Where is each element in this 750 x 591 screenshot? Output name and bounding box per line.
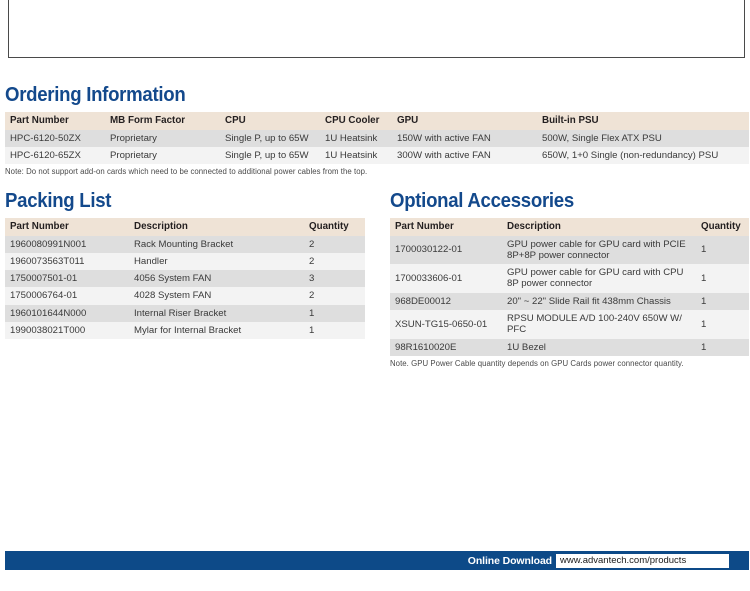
cell-quantity: 1 <box>304 305 365 322</box>
table-row: XSUN-TG15-0650-01 RPSU MODULE A/D 100-24… <box>390 310 749 339</box>
cell-description: Internal Riser Bracket <box>129 305 304 322</box>
column-header: CPU <box>220 112 320 130</box>
ordering-note: Note: Do not support add-on cards which … <box>5 167 749 176</box>
cell-part-number: 1750006764-01 <box>5 287 129 304</box>
cell-cpu-cooler: 1U Heatsink <box>320 147 392 164</box>
cell-description: 1U Bezel <box>502 339 696 356</box>
cell-description: Handler <box>129 253 304 270</box>
table-row: 1960101644N000 Internal Riser Bracket 1 <box>5 305 365 322</box>
optional-accessories-heading: Optional Accessories <box>390 190 724 213</box>
column-header: GPU <box>392 112 537 130</box>
column-header: Quantity <box>696 218 749 236</box>
cell-part-number: XSUN-TG15-0650-01 <box>390 310 502 339</box>
table-header-row: Part Number Description Quantity <box>5 218 365 236</box>
cell-quantity: 2 <box>304 253 365 270</box>
technical-drawing-frame: 507.5 [20.0] 540.5 [21.3] <box>8 0 745 58</box>
cell-description: 20" ~ 22" Slide Rail fit 438mm Chassis <box>502 293 696 310</box>
cell-quantity: 1 <box>304 322 365 339</box>
cell-cpu: Single P, up to 65W <box>220 147 320 164</box>
cell-part-number: 968DE00012 <box>390 293 502 310</box>
ordering-heading: Ordering Information <box>5 84 697 107</box>
column-header: Description <box>502 218 696 236</box>
cell-part-number: 98R1610020E <box>390 339 502 356</box>
table-row: HPC-6120-50ZX Proprietary Single P, up t… <box>5 130 749 147</box>
cell-psu: 650W, 1+0 Single (non-redundancy) PSU <box>537 147 749 164</box>
cell-quantity: 2 <box>304 287 365 304</box>
table-row: 98R1610020E 1U Bezel 1 <box>390 339 749 356</box>
footer-bar: Online Download www.advantech.com/produc… <box>5 551 749 570</box>
cell-quantity: 1 <box>696 310 749 339</box>
column-header: Part Number <box>5 112 105 130</box>
cell-quantity: 1 <box>696 293 749 310</box>
cell-quantity: 3 <box>304 270 365 287</box>
cell-description: Mylar for Internal Bracket <box>129 322 304 339</box>
accessories-note: Note. GPU Power Cable quantity depends o… <box>390 359 749 368</box>
cell-part-number: 1700033606-01 <box>390 264 502 293</box>
cell-psu: 500W, Single Flex ATX PSU <box>537 130 749 147</box>
cell-gpu: 150W with active FAN <box>392 130 537 147</box>
table-header-row: Part Number MB Form Factor CPU CPU Coole… <box>5 112 749 130</box>
column-header: Quantity <box>304 218 365 236</box>
cell-quantity: 1 <box>696 264 749 293</box>
table-row: 1960080991N001 Rack Mounting Bracket 2 <box>5 236 365 253</box>
cell-description: GPU power cable for GPU card with CPU 8P… <box>502 264 696 293</box>
cell-part-number: 1960101644N000 <box>5 305 129 322</box>
cell-quantity: 1 <box>696 236 749 265</box>
column-header: Part Number <box>390 218 502 236</box>
cell-mb-form-factor: Proprietary <box>105 147 220 164</box>
column-header: MB Form Factor <box>105 112 220 130</box>
ordering-information-section: Ordering Information Part Number MB Form… <box>5 84 749 176</box>
column-header: Description <box>129 218 304 236</box>
cell-description: RPSU MODULE A/D 100-240V 650W W/ PFC <box>502 310 696 339</box>
packing-list-heading: Packing List <box>5 190 340 213</box>
cell-part-number: HPC-6120-50ZX <box>5 130 105 147</box>
cell-part-number: 1990038021T000 <box>5 322 129 339</box>
table-row: 1700033606-01 GPU power cable for GPU ca… <box>390 264 749 293</box>
cell-part-number: 1960080991N001 <box>5 236 129 253</box>
cell-part-number: HPC-6120-65ZX <box>5 147 105 164</box>
cell-part-number: 1750007501-01 <box>5 270 129 287</box>
packing-list-section: Packing List Part Number Description Qua… <box>5 190 365 339</box>
footer-download-group: Online Download www.advantech.com/produc… <box>468 551 749 570</box>
cell-quantity: 2 <box>304 236 365 253</box>
footer-url-link[interactable]: www.advantech.com/products <box>556 554 729 568</box>
cell-gpu: 300W with active FAN <box>392 147 537 164</box>
column-header: Part Number <box>5 218 129 236</box>
table-row: 1700030122-01 GPU power cable for GPU ca… <box>390 236 749 265</box>
cell-description: 4056 System FAN <box>129 270 304 287</box>
table-row: 1990038021T000 Mylar for Internal Bracke… <box>5 322 365 339</box>
cell-description: GPU power cable for GPU card with PCIE 8… <box>502 236 696 265</box>
cell-quantity: 1 <box>696 339 749 356</box>
cell-cpu: Single P, up to 65W <box>220 130 320 147</box>
optional-accessories-table: Part Number Description Quantity 1700030… <box>390 218 749 356</box>
table-row: HPC-6120-65ZX Proprietary Single P, up t… <box>5 147 749 164</box>
table-row: 1750006764-01 4028 System FAN 2 <box>5 287 365 304</box>
table-row: 1750007501-01 4056 System FAN 3 <box>5 270 365 287</box>
cell-mb-form-factor: Proprietary <box>105 130 220 147</box>
cell-part-number: 1960073563T011 <box>5 253 129 270</box>
cell-part-number: 1700030122-01 <box>390 236 502 265</box>
online-download-label: Online Download <box>468 555 556 567</box>
cell-cpu-cooler: 1U Heatsink <box>320 130 392 147</box>
table-header-row: Part Number Description Quantity <box>390 218 749 236</box>
table-row: 968DE00012 20" ~ 22" Slide Rail fit 438m… <box>390 293 749 310</box>
ordering-table: Part Number MB Form Factor CPU CPU Coole… <box>5 112 749 164</box>
table-row: 1960073563T011 Handler 2 <box>5 253 365 270</box>
cell-description: 4028 System FAN <box>129 287 304 304</box>
optional-accessories-section: Optional Accessories Part Number Descrip… <box>390 190 749 368</box>
packing-list-table: Part Number Description Quantity 1960080… <box>5 218 365 339</box>
cell-description: Rack Mounting Bracket <box>129 236 304 253</box>
column-header: CPU Cooler <box>320 112 392 130</box>
column-header: Built-in PSU <box>537 112 749 130</box>
